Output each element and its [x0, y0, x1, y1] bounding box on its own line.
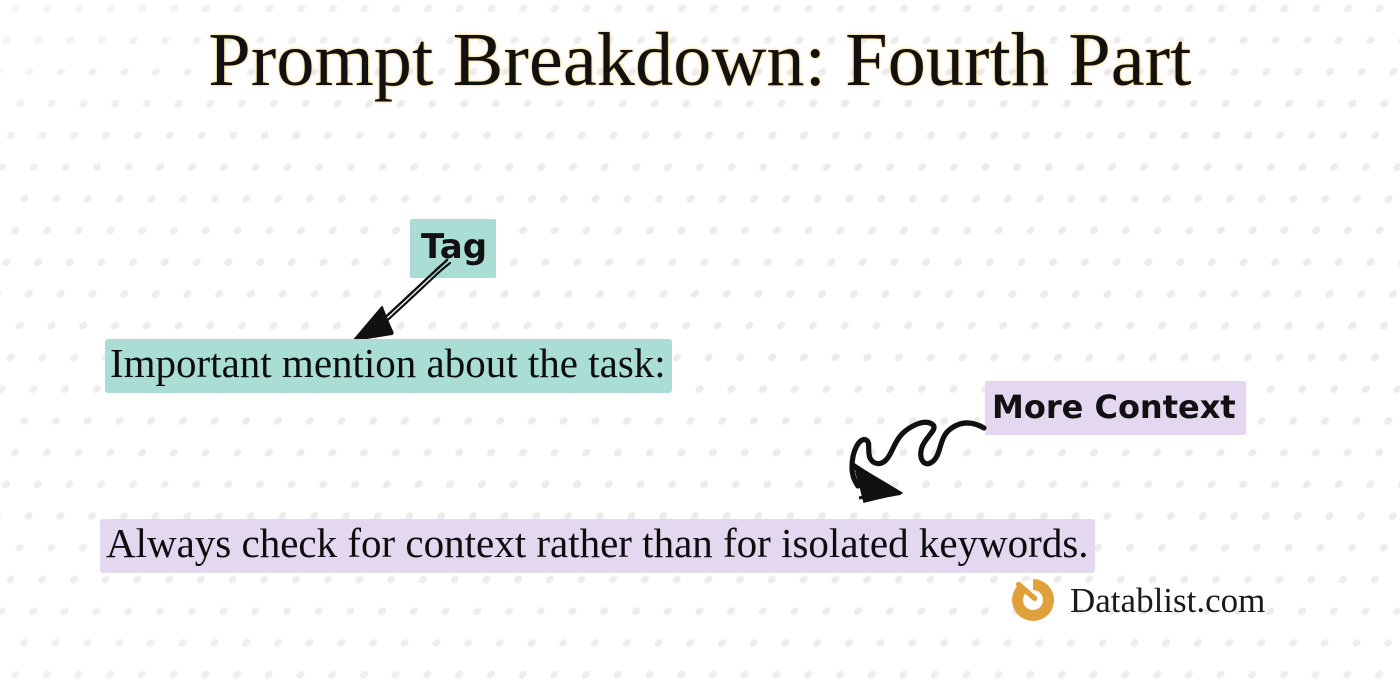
datablist-ring-icon	[1010, 577, 1056, 623]
body-line-task: Important mention about the task:	[105, 339, 672, 393]
slide-canvas: Prompt Breakdown: Fourth Part Tag More C…	[0, 0, 1400, 700]
curly-loop-arrow-down-left-icon	[840, 412, 1000, 512]
brand-footer: Datablist.com	[1010, 577, 1265, 623]
body-line-context: Always check for context rather than for…	[100, 519, 1095, 573]
callout-label-tag: Tag	[410, 219, 496, 278]
page-title: Prompt Breakdown: Fourth Part	[0, 22, 1400, 98]
callout-label-more-context: More Context	[985, 381, 1246, 435]
brand-name-label: Datablist.com	[1070, 583, 1265, 618]
